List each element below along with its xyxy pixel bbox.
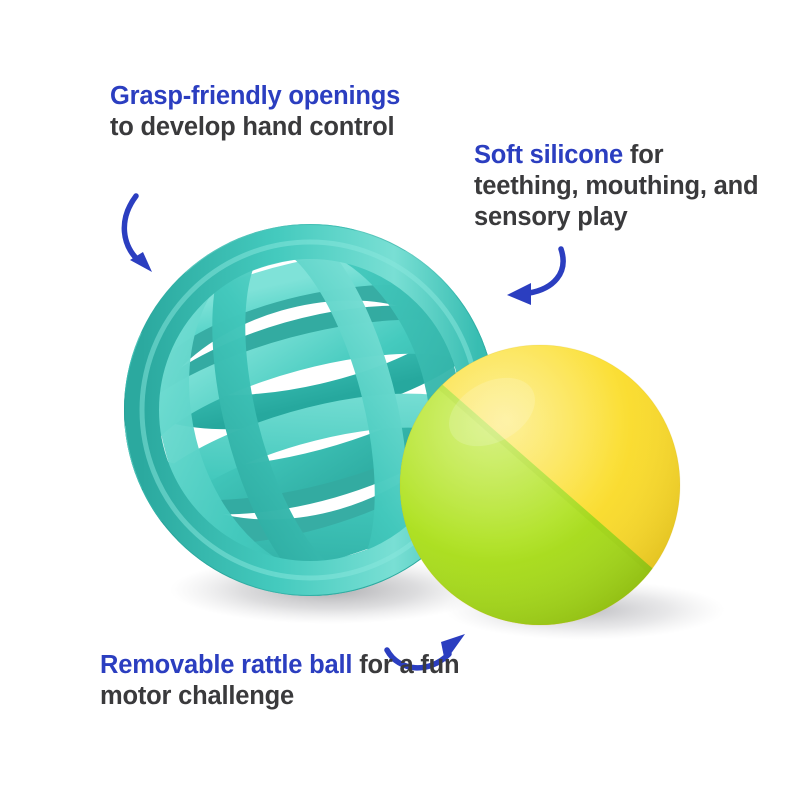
- callout-soft-silicone: Soft silicone for teething, mouthing, an…: [474, 140, 774, 233]
- infographic-canvas: Grasp-friendly openings to develop hand …: [0, 0, 800, 800]
- callout-grasp-friendly: Grasp-friendly openings to develop hand …: [110, 81, 410, 143]
- callout-grasp-highlight: Grasp-friendly openings: [110, 82, 400, 110]
- callout-removable-rattle: Removable rattle ball for a fun motor ch…: [100, 650, 520, 712]
- callout-silicone-highlight: Soft silicone: [474, 141, 623, 169]
- callout-rattle-highlight: Removable rattle ball: [100, 651, 352, 679]
